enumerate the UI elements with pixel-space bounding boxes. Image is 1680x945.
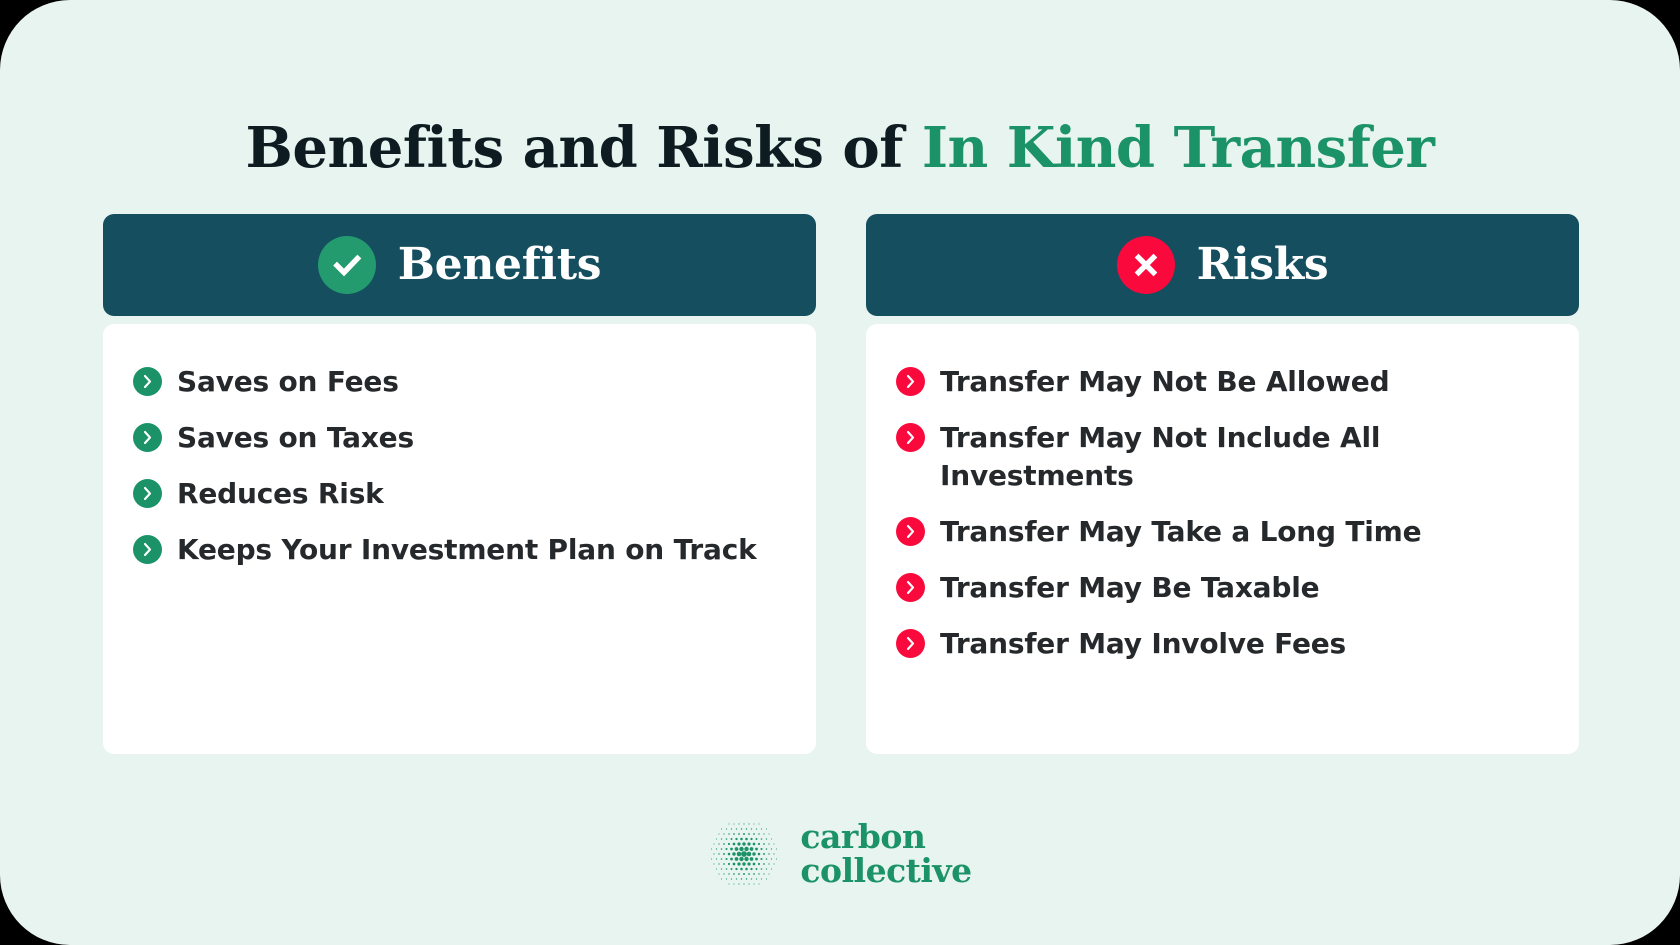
list-item-label: Saves on Fees: [177, 363, 399, 401]
list-item: Transfer May Not Include All Investments: [896, 410, 1545, 504]
chevron-right-circle-icon: [133, 535, 162, 564]
brand-logo-line1: carbon: [800, 820, 971, 854]
page-title-accent: In Kind Transfer: [922, 115, 1435, 181]
list-item: Transfer May Be Taxable: [896, 560, 1545, 616]
chevron-right-circle-icon: [896, 367, 925, 396]
benefits-header-label: Benefits: [398, 240, 602, 290]
list-item-label: Transfer May Involve Fees: [940, 625, 1346, 663]
chevron-right-circle-icon: [896, 423, 925, 452]
x-circle-icon: [1117, 236, 1175, 294]
risks-header-label: Risks: [1197, 240, 1329, 290]
brand-logo-text: carbon collective: [800, 820, 971, 888]
list-item-label: Saves on Taxes: [177, 419, 414, 457]
chevron-right-circle-icon: [896, 629, 925, 658]
list-item: Reduces Risk: [133, 466, 782, 522]
chevron-right-circle-icon: [896, 517, 925, 546]
check-circle-icon: [318, 236, 376, 294]
benefits-column: Benefits Saves on Fees: [103, 214, 816, 754]
list-item-label: Transfer May Not Be Allowed: [940, 363, 1389, 401]
carbon-collective-dots-icon: [708, 818, 780, 890]
infographic-canvas: Benefits and Risks of In Kind Transfer B…: [0, 0, 1680, 945]
list-item: Saves on Fees: [133, 354, 782, 410]
benefits-list: Saves on Fees Saves on Taxes: [133, 354, 782, 578]
page-title: Benefits and Risks of In Kind Transfer: [0, 114, 1680, 182]
list-item-label: Keeps Your Investment Plan on Track: [177, 531, 757, 569]
chevron-right-circle-icon: [133, 423, 162, 452]
risks-list: Transfer May Not Be Allowed Transfer May…: [896, 354, 1545, 672]
chevron-right-circle-icon: [133, 479, 162, 508]
list-item-label: Transfer May Be Taxable: [940, 569, 1319, 607]
benefits-card: Saves on Fees Saves on Taxes: [103, 324, 816, 754]
list-item: Keeps Your Investment Plan on Track: [133, 522, 782, 578]
risks-header: Risks: [866, 214, 1579, 316]
list-item: Saves on Taxes: [133, 410, 782, 466]
page-title-plain: Benefits and Risks of: [246, 115, 922, 181]
brand-logo: carbon collective: [0, 818, 1680, 890]
risks-card: Transfer May Not Be Allowed Transfer May…: [866, 324, 1579, 754]
list-item: Transfer May Not Be Allowed: [896, 354, 1545, 410]
chevron-right-circle-icon: [896, 573, 925, 602]
list-item-label: Transfer May Take a Long Time: [940, 513, 1421, 551]
comparison-columns: Benefits Saves on Fees: [103, 214, 1579, 754]
brand-logo-line2: collective: [800, 854, 971, 888]
list-item: Transfer May Take a Long Time: [896, 504, 1545, 560]
list-item-label: Transfer May Not Include All Investments: [940, 419, 1545, 495]
benefits-header: Benefits: [103, 214, 816, 316]
chevron-right-circle-icon: [133, 367, 162, 396]
list-item-label: Reduces Risk: [177, 475, 384, 513]
list-item: Transfer May Involve Fees: [896, 616, 1545, 672]
risks-column: Risks Transfer May Not Be Allowed: [866, 214, 1579, 754]
